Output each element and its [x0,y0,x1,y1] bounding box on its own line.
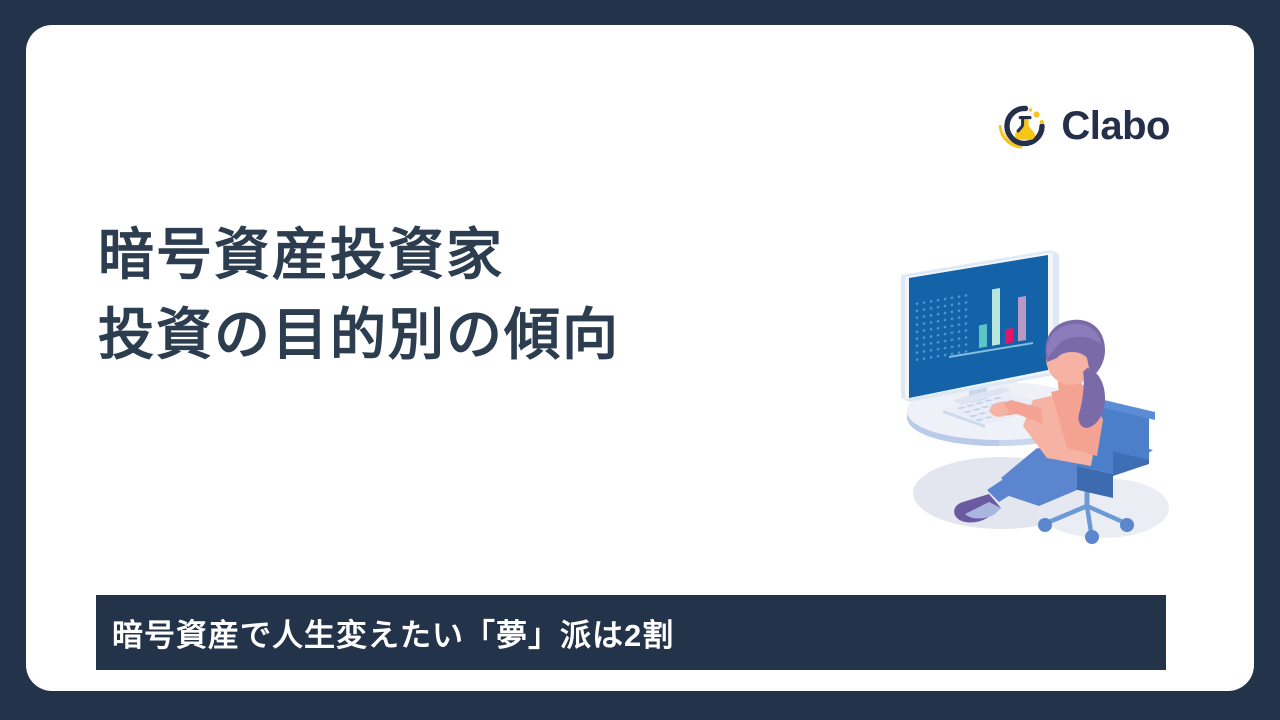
page-title: 暗号資産投資家 投資の目的別の傾向 [98,215,858,374]
flask-circle-icon [997,99,1051,153]
monitor [901,250,1059,402]
banner-text: 暗号資産で人生変えたい「夢」派は2割 [96,610,674,655]
logo-wordmark: Clabo [1061,106,1170,146]
slide-root: Clabo 暗号資産投資家 投資の目的別の傾向 [0,0,1280,720]
person-at-desk-illustration [891,250,1176,560]
slide-card: Clabo 暗号資産投資家 投資の目的別の傾向 [26,25,1254,691]
title-line-1: 暗号資産投資家 [98,215,858,295]
title-line-2: 投資の目的別の傾向 [98,295,858,375]
subtitle-banner: 暗号資産で人生変えたい「夢」派は2割 [96,595,1166,670]
brand-logo[interactable]: Clabo [997,99,1170,153]
